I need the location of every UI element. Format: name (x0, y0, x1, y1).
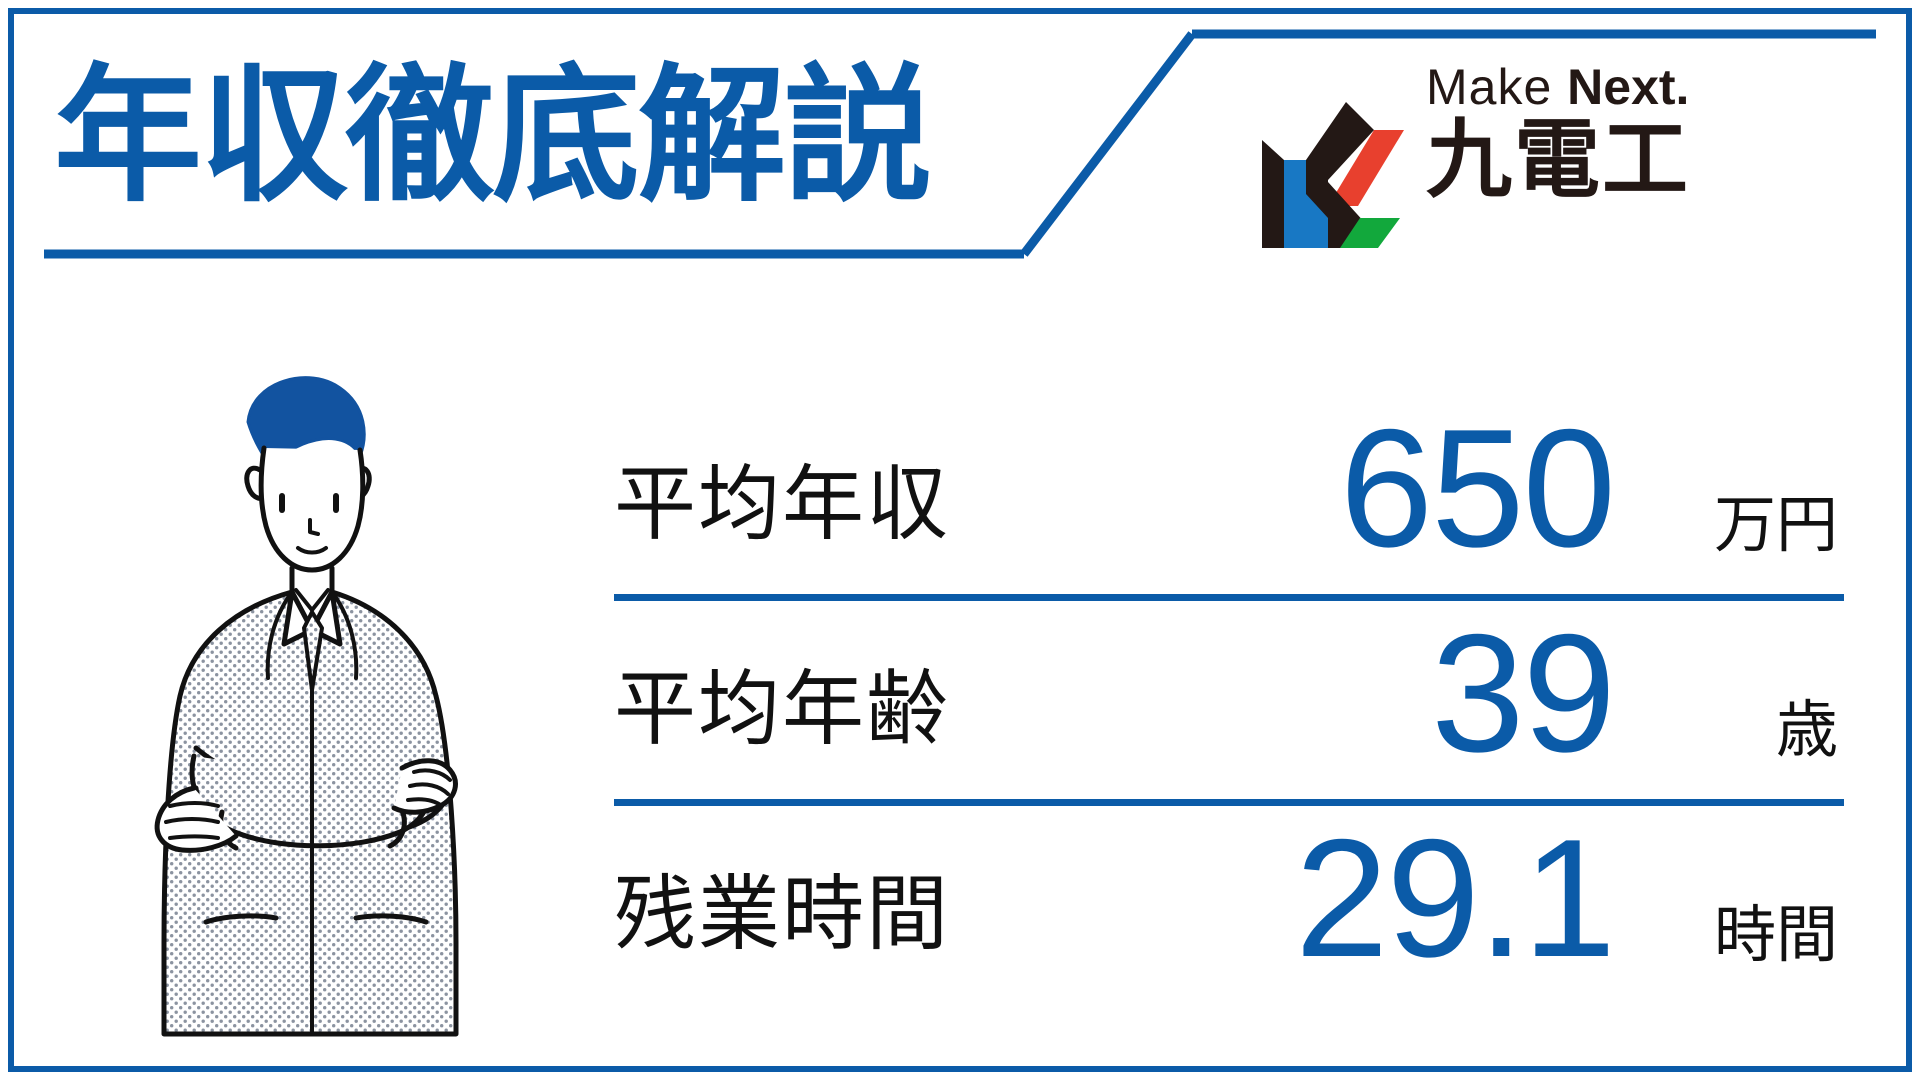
stat-unit-overtime-hours: 時間 (1614, 904, 1844, 966)
table-row: 平均年収 650 万円 (614, 389, 1844, 594)
stat-unit-average-age: 歳 (1614, 699, 1844, 761)
stat-label-overtime-hours: 残業時間 (614, 874, 1044, 956)
logo-text-block: Make Next. 九電工 (1426, 62, 1846, 203)
infographic-card: 年収徹底解説 (8, 8, 1912, 1072)
logo-company-name: 九電工 (1426, 117, 1846, 203)
header: 年収徹底解説 (14, 14, 1906, 324)
kyudenko-mark-icon (1254, 98, 1404, 248)
logo-tagline-make: Make (1426, 59, 1552, 115)
stat-value-average-salary: 650 (1044, 404, 1614, 572)
logo-tagline-next: Next. (1567, 59, 1689, 115)
stat-unit-average-salary: 万円 (1614, 494, 1844, 556)
stat-value-average-age: 39 (1044, 609, 1614, 777)
table-row: 残業時間 29.1 時間 (614, 799, 1844, 1004)
table-row: 平均年齢 39 歳 (614, 594, 1844, 799)
businessman-illustration (84, 344, 504, 1044)
stat-value-overtime-hours: 29.1 (1044, 814, 1614, 982)
logo-tagline: Make Next. (1426, 62, 1846, 113)
stat-label-average-age: 平均年齢 (614, 669, 1044, 751)
company-logo: Make Next. 九電工 (1254, 62, 1854, 252)
stat-label-average-salary: 平均年収 (614, 464, 1044, 546)
stats-table: 平均年収 650 万円 平均年齢 39 歳 残業時間 29.1 時間 (614, 389, 1844, 1044)
